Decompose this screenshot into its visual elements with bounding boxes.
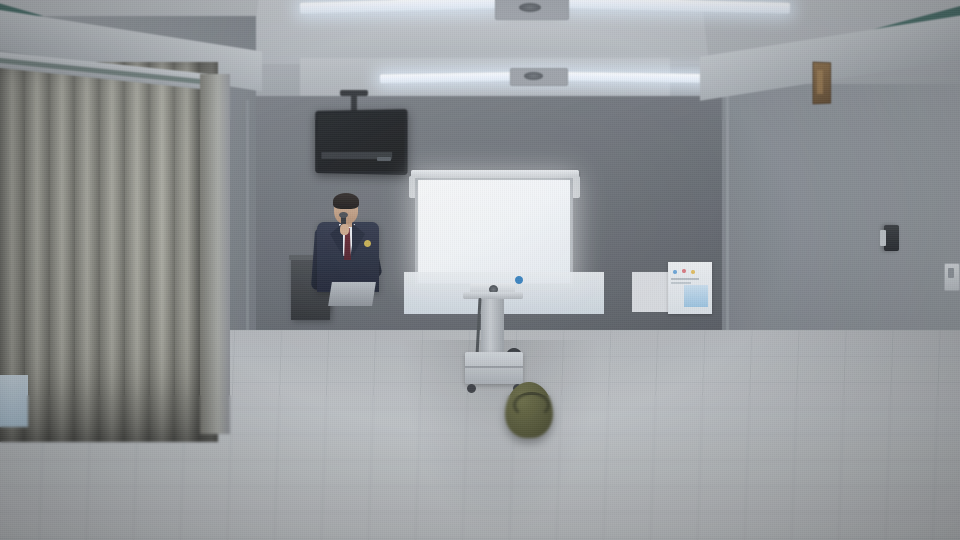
microphone-head-icon (339, 212, 348, 218)
screen-bracket-right (572, 176, 580, 198)
poster-text-line-2 (671, 282, 691, 284)
curtain-edge (200, 74, 230, 434)
light-switch-rocker[interactable] (948, 268, 954, 278)
av-cart-caster-left (467, 384, 476, 393)
poster-text-line-1 (671, 278, 699, 280)
backpack-strap (513, 392, 550, 418)
wall-poster-secondary (632, 272, 668, 312)
presenter-lapel-pin (364, 240, 371, 247)
wall-speaker (884, 225, 899, 251)
av-cart-shelf-seam (465, 366, 523, 368)
window-curtain (0, 62, 218, 442)
av-cart-shelf (465, 352, 523, 384)
projection-screen-surface (418, 180, 570, 283)
banner-logo-subtext (525, 277, 555, 283)
av-cart-top (463, 292, 523, 299)
presenter-hair (333, 193, 359, 209)
wall-speaker-bracket (880, 230, 886, 246)
plaque-inner (817, 70, 823, 94)
presenter-hand (340, 224, 349, 235)
photograph-seminar-room (0, 0, 960, 540)
tv-indicator (377, 157, 391, 161)
poster-image (684, 285, 708, 307)
poster-dot-yellow (691, 270, 695, 274)
presenter-table (328, 282, 376, 306)
ceiling-sensor-1 (519, 3, 541, 12)
ceiling-sensor-2 (524, 72, 543, 80)
banner-logo-mark (515, 276, 523, 284)
left-wall-poster (0, 375, 28, 427)
poster-dot-red (682, 269, 686, 273)
poster-dot-blue (673, 270, 677, 274)
wall-tv-screen (315, 109, 407, 175)
